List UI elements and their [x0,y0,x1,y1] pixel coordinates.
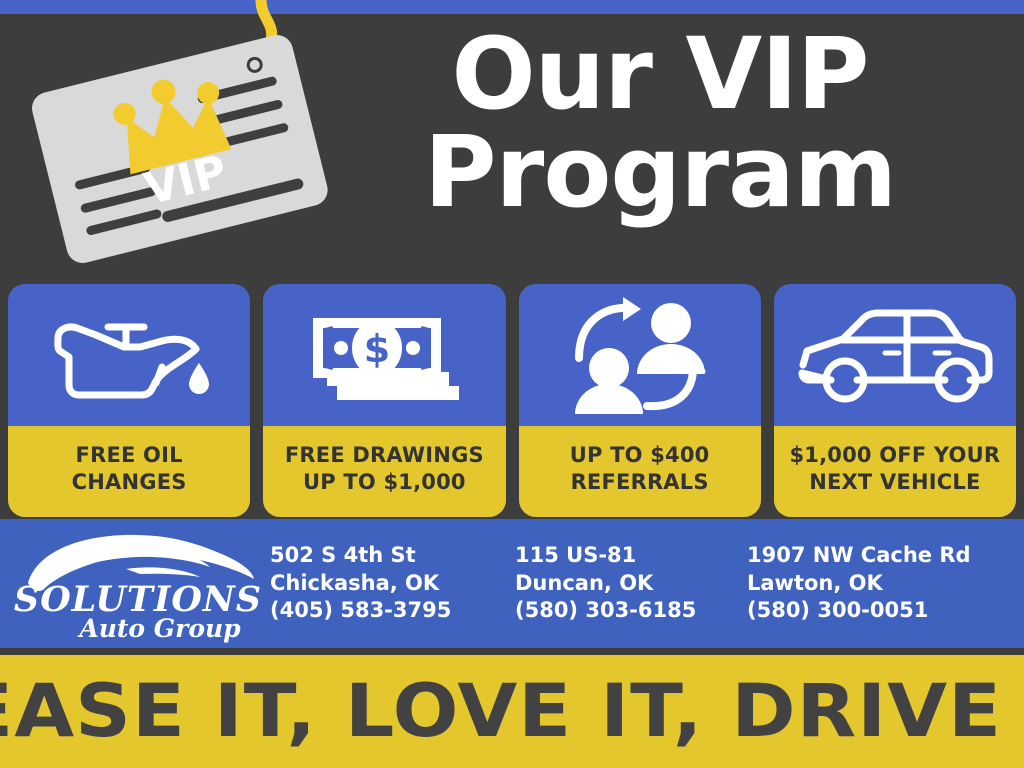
location-street: 502 S 4th St [270,542,515,570]
benefits-row: FREE OIL CHANGES $ FREE DRAW [0,284,1024,517]
location-city: Lawton, OK [747,570,971,598]
benefit-card-referrals[interactable]: UP TO $400 REFERRALS [519,284,761,517]
referral-people-icon [565,296,715,414]
location-street: 1907 NW Cache Rd [747,542,971,570]
banner-divider [0,648,1024,655]
headline-line-1: Our VIP [360,26,960,124]
benefit-icon-container: $ [263,284,505,426]
benefit-label: FREE DRAWINGS UP TO $1,000 [263,426,505,517]
svg-text:$: $ [364,327,390,371]
benefit-label-line-2: REFERRALS [571,470,709,494]
location-phone[interactable]: (580) 300-0051 [747,597,971,625]
benefit-label-line-2: UP TO $1,000 [303,470,466,494]
oil-can-icon [44,305,214,405]
tagline-banner: LEASE IT, LOVE IT, DRIVE IT [0,655,1024,768]
location-item: 1907 NW Cache Rd Lawton, OK (580) 300-00… [747,542,971,626]
benefit-icon-container [8,284,250,426]
headline-line-2: Program [360,124,960,222]
benefit-card-free-drawings[interactable]: $ FREE DRAWINGS UP TO $1,000 [263,284,505,517]
money-stack-icon: $ [297,300,472,410]
location-street: 115 US-81 [515,542,747,570]
location-phone[interactable]: (405) 583-3795 [270,597,515,625]
benefit-label-line-2: CHANGES [72,470,187,494]
benefit-label-line-1: $1,000 OFF YOUR [790,443,1001,467]
location-item: 502 S 4th St Chickasha, OK (405) 583-379… [270,542,515,626]
tagline-text: LEASE IT, LOVE IT, DRIVE IT [0,675,1024,748]
benefit-label: $1,000 OFF YOUR NEXT VEHICLE [774,426,1016,517]
locations-list: 502 S 4th St Chickasha, OK (405) 583-379… [270,542,1024,626]
car-swoosh-logo-icon: SOLUTIONS Auto Group [14,525,264,643]
location-item: 115 US-81 Duncan, OK (580) 303-6185 [515,542,747,626]
contact-bar: SOLUTIONS Auto Group 502 S 4th St Chicka… [0,519,1024,648]
brand-name-secondary: Auto Group [77,614,241,643]
benefit-card-vehicle-discount[interactable]: $1,000 OFF YOUR NEXT VEHICLE [774,284,1016,517]
benefit-label: UP TO $400 REFERRALS [519,426,761,517]
benefit-icon-container [519,284,761,426]
page-title: Our VIP Program [360,26,960,222]
brand-logo[interactable]: SOLUTIONS Auto Group [0,525,270,643]
benefit-label-line-1: UP TO $400 [570,443,710,467]
benefit-card-free-oil-changes[interactable]: FREE OIL CHANGES [8,284,250,517]
benefit-label: FREE OIL CHANGES [8,426,250,517]
hero-section: VIP Our VIP Program [0,14,1024,278]
location-city: Chickasha, OK [270,570,515,598]
benefit-label-line-2: NEXT VEHICLE [809,470,980,494]
location-city: Duncan, OK [515,570,747,598]
location-phone[interactable]: (580) 303-6185 [515,597,747,625]
benefit-label-line-1: FREE OIL [76,443,183,467]
vip-card-illustration: VIP [18,0,348,278]
benefit-icon-container [774,284,1016,426]
car-icon [795,303,995,408]
benefit-label-line-1: FREE DRAWINGS [285,443,484,467]
